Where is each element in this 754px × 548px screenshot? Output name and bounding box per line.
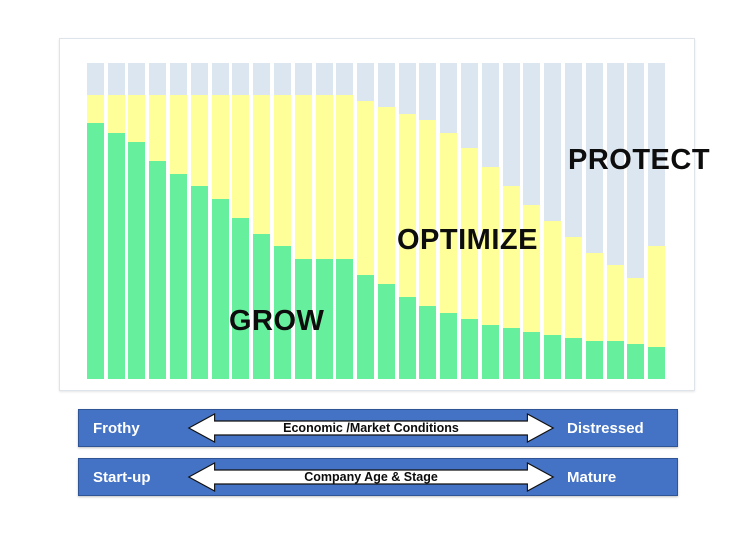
bar-segment-optimize bbox=[378, 107, 395, 284]
stacked-bar bbox=[170, 63, 187, 379]
bar-segment-protect bbox=[149, 63, 166, 95]
bar-segment-optimize bbox=[336, 95, 353, 259]
bar-segment-optimize bbox=[253, 95, 270, 234]
bar-segment-grow bbox=[357, 275, 374, 379]
bar-segment-grow bbox=[586, 341, 603, 379]
bar-segment-grow bbox=[232, 218, 249, 379]
stacked-bar bbox=[128, 63, 145, 379]
bar-segment-grow bbox=[461, 319, 478, 379]
bar-segment-grow bbox=[440, 313, 457, 379]
bar-segment-grow bbox=[87, 123, 104, 379]
bar-segment-grow bbox=[170, 174, 187, 379]
bar-segment-grow bbox=[316, 259, 333, 379]
bar-segment-protect bbox=[87, 63, 104, 95]
bar-segment-grow bbox=[565, 338, 582, 379]
bar-segment-protect bbox=[544, 63, 561, 221]
bar-segment-protect bbox=[274, 63, 291, 95]
stacked-bar bbox=[586, 63, 603, 379]
bar-segment-grow bbox=[108, 133, 125, 379]
bar-segment-protect bbox=[336, 63, 353, 95]
stacked-bar bbox=[544, 63, 561, 379]
stacked-bar bbox=[149, 63, 166, 379]
bar-segment-grow bbox=[128, 142, 145, 379]
stacked-bar bbox=[461, 63, 478, 379]
bar-segment-protect bbox=[232, 63, 249, 95]
bar-segment-protect bbox=[316, 63, 333, 95]
bar-segment-optimize bbox=[232, 95, 249, 218]
bar-segment-optimize bbox=[295, 95, 312, 259]
stacked-bar bbox=[212, 63, 229, 379]
stacked-bar bbox=[440, 63, 457, 379]
bar-segment-optimize bbox=[191, 95, 208, 187]
bar-segment-optimize bbox=[523, 205, 540, 331]
bar-segment-optimize bbox=[461, 148, 478, 319]
bar-segment-protect bbox=[399, 63, 416, 114]
bar-segment-protect bbox=[523, 63, 540, 205]
bar-segment-optimize bbox=[586, 253, 603, 341]
bar-segment-grow bbox=[482, 325, 499, 379]
slide-canvas: GROW OPTIMIZE PROTECT Frothy Economic /M… bbox=[0, 0, 754, 548]
bar-segment-optimize bbox=[274, 95, 291, 247]
banner-stage-center-label: Company Age & Stage bbox=[187, 462, 555, 492]
stacked-bar bbox=[503, 63, 520, 379]
bar-segment-grow bbox=[191, 186, 208, 379]
stacked-bar bbox=[253, 63, 270, 379]
banner-company-stage: Start-up Company Age & Stage Mature bbox=[78, 458, 678, 496]
bar-segment-grow bbox=[253, 234, 270, 379]
stacked-bar bbox=[336, 63, 353, 379]
stacked-bar bbox=[108, 63, 125, 379]
banner-stage-right-label: Mature bbox=[555, 469, 677, 486]
stacked-bar bbox=[274, 63, 291, 379]
bar-segment-optimize bbox=[357, 101, 374, 275]
bar-segment-optimize bbox=[316, 95, 333, 259]
stacked-bar bbox=[316, 63, 333, 379]
bar-segment-protect bbox=[586, 63, 603, 253]
bar-segment-optimize bbox=[170, 95, 187, 174]
stacked-bar bbox=[627, 63, 644, 379]
stacked-bar bbox=[295, 63, 312, 379]
bar-segment-optimize bbox=[399, 114, 416, 297]
bar-segment-grow bbox=[378, 284, 395, 379]
banner-market-right-label: Distressed bbox=[555, 420, 677, 437]
banner-stage-left-label: Start-up bbox=[79, 469, 187, 486]
bar-segment-optimize bbox=[87, 95, 104, 123]
bar-segment-optimize bbox=[149, 95, 166, 161]
bar-segment-protect bbox=[191, 63, 208, 95]
bar-segment-grow bbox=[399, 297, 416, 379]
stacked-bar bbox=[482, 63, 499, 379]
stacked-bar bbox=[565, 63, 582, 379]
bar-segment-optimize bbox=[212, 95, 229, 199]
bar-segment-protect bbox=[212, 63, 229, 95]
bar-segment-grow bbox=[544, 335, 561, 379]
bar-segment-grow bbox=[295, 259, 312, 379]
banner-market-center-label: Economic /Market Conditions bbox=[187, 413, 555, 443]
bar-segment-protect bbox=[419, 63, 436, 120]
stacked-bar bbox=[399, 63, 416, 379]
stacked-bar bbox=[607, 63, 624, 379]
stacked-bar bbox=[232, 63, 249, 379]
bar-segment-optimize bbox=[503, 186, 520, 328]
double-arrow-icon-market: Economic /Market Conditions bbox=[187, 413, 555, 443]
chart-panel: GROW OPTIMIZE PROTECT bbox=[59, 38, 695, 391]
bar-segment-protect bbox=[627, 63, 644, 278]
bar-segment-optimize bbox=[419, 120, 436, 306]
banner-market-conditions: Frothy Economic /Market Conditions Distr… bbox=[78, 409, 678, 447]
bar-segment-optimize bbox=[648, 246, 665, 347]
bar-segment-protect bbox=[565, 63, 582, 237]
bar-segment-protect bbox=[461, 63, 478, 148]
bar-segment-grow bbox=[503, 328, 520, 379]
stacked-bar bbox=[87, 63, 104, 379]
banner-market-left-label: Frothy bbox=[79, 420, 187, 437]
stacked-bar bbox=[191, 63, 208, 379]
stacked-bar bbox=[378, 63, 395, 379]
bar-segment-protect bbox=[440, 63, 457, 133]
bar-segment-protect bbox=[378, 63, 395, 107]
double-arrow-icon-stage: Company Age & Stage bbox=[187, 462, 555, 492]
bar-segment-optimize bbox=[128, 95, 145, 142]
stacked-bar bbox=[523, 63, 540, 379]
bar-segment-optimize bbox=[544, 221, 561, 335]
bar-segment-protect bbox=[482, 63, 499, 167]
bar-segment-grow bbox=[336, 259, 353, 379]
bar-segment-protect bbox=[648, 63, 665, 246]
bar-segment-protect bbox=[170, 63, 187, 95]
stacked-bar bbox=[419, 63, 436, 379]
bar-segment-grow bbox=[212, 199, 229, 379]
bar-segment-protect bbox=[253, 63, 270, 95]
bar-segment-grow bbox=[523, 332, 540, 379]
bar-segment-optimize bbox=[627, 278, 644, 344]
bar-segment-grow bbox=[607, 341, 624, 379]
bar-segment-grow bbox=[648, 347, 665, 379]
stacked-bar bbox=[648, 63, 665, 379]
bar-segment-grow bbox=[149, 161, 166, 379]
bar-segment-protect bbox=[108, 63, 125, 95]
bar-segment-protect bbox=[607, 63, 624, 265]
bar-segment-optimize bbox=[440, 133, 457, 313]
bar-segment-optimize bbox=[607, 265, 624, 341]
bar-segment-grow bbox=[419, 306, 436, 379]
stacked-bar-plot-area bbox=[85, 63, 667, 379]
bar-segment-optimize bbox=[482, 167, 499, 325]
bar-segment-grow bbox=[627, 344, 644, 379]
bar-segment-protect bbox=[503, 63, 520, 186]
bar-segment-protect bbox=[295, 63, 312, 95]
bar-segment-optimize bbox=[108, 95, 125, 133]
stacked-bar bbox=[357, 63, 374, 379]
bar-segment-optimize bbox=[565, 237, 582, 338]
bar-segment-grow bbox=[274, 246, 291, 379]
bar-segment-protect bbox=[357, 63, 374, 101]
bar-segment-protect bbox=[128, 63, 145, 95]
